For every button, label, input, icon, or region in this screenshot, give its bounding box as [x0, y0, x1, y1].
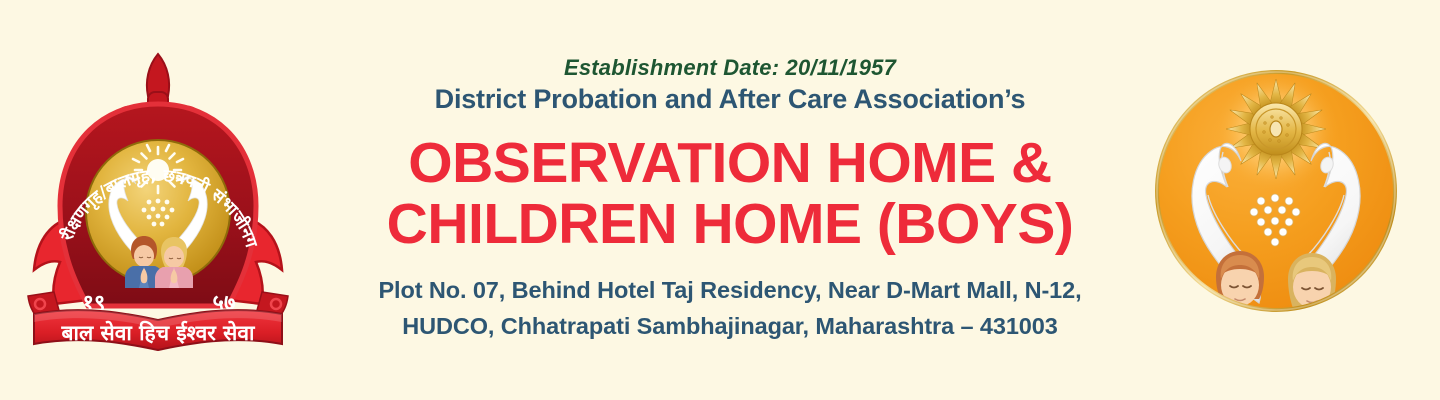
crest-ribbon-motto: बाल सेवा हिच ईश्वर सेवा: [61, 320, 257, 345]
address-line-1: Plot No. 07, Behind Hotel Taj Residency,…: [378, 272, 1081, 308]
sun-icon: [1226, 79, 1326, 179]
title-line-2: CHILDREN HOME (BOYS): [387, 194, 1074, 256]
page-title: OBSERVATION HOME & CHILDREN HOME (BOYS): [387, 133, 1074, 256]
round-logo: [1153, 53, 1399, 333]
crest-ribbon: बाल सेवा हिच ईश्वर सेवा: [34, 310, 282, 350]
crest-emblem: निरीक्षणगृह/बालगृह, छत्रपती संभाजीनगर १९…: [18, 38, 298, 358]
header-banner: निरीक्षणगृह/बालगृह, छत्रपती संभाजीनगर १९…: [0, 0, 1440, 400]
title-line-1: OBSERVATION HOME &: [387, 133, 1074, 195]
center-text-block: Establishment Date: 20/11/1957 District …: [310, 0, 1150, 400]
address-block: Plot No. 07, Behind Hotel Taj Residency,…: [378, 272, 1081, 345]
address-line-2: HUDCO, Chhatrapati Sambhajinagar, Mahara…: [378, 308, 1081, 344]
association-name: District Probation and After Care Associ…: [435, 83, 1026, 115]
establishment-date: Establishment Date: 20/11/1957: [564, 55, 896, 80]
